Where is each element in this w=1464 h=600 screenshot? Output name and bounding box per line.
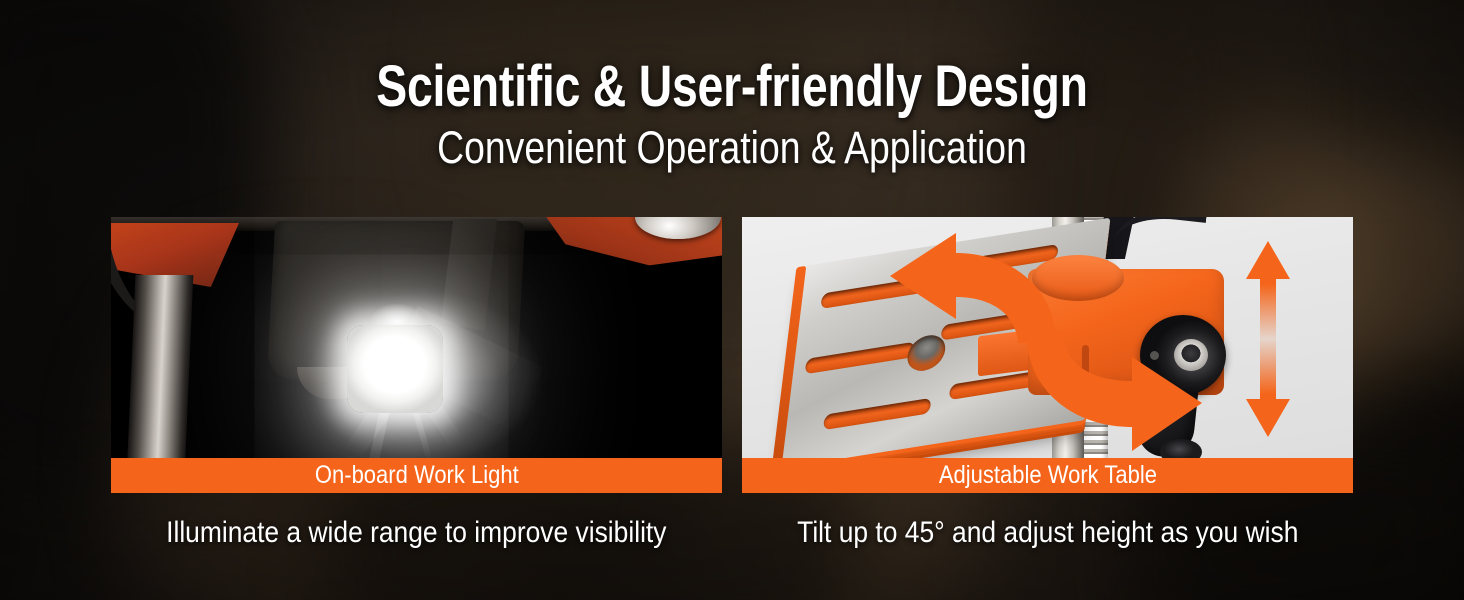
work-table-photo (742, 217, 1353, 458)
heading-block: Scientific & User-friendly Design Conven… (0, 56, 1464, 172)
height-adjust-arrow-icon (1242, 239, 1294, 439)
caption-label: Adjustable Work Table (938, 458, 1156, 493)
tilt-arrow-down-right-icon (1020, 327, 1220, 457)
led-lens (347, 325, 443, 413)
feature-card-work-table: Adjustable Work Table Tilt up to 45° and… (742, 217, 1353, 550)
description-work-table: Tilt up to 45° and adjust height as you … (742, 516, 1353, 550)
description-work-light: Illuminate a wide range to improve visib… (111, 516, 722, 550)
description-text: Tilt up to 45° and adjust height as you … (797, 516, 1298, 550)
product-feature-banner: Scientific & User-friendly Design Conven… (0, 0, 1464, 600)
caption-bar-work-table: Adjustable Work Table (742, 458, 1353, 493)
power-cable (1111, 217, 1207, 273)
work-light-photo (111, 217, 722, 458)
caption-label: On-board Work Light (315, 458, 519, 493)
caption-bar-work-light: On-board Work Light (111, 458, 722, 493)
banner-title: Scientific & User-friendly Design (146, 56, 1317, 118)
description-text: Illuminate a wide range to improve visib… (166, 516, 666, 550)
banner-subtitle: Convenient Operation & Application (124, 124, 1339, 172)
feature-card-work-light: On-board Work Light Illuminate a wide ra… (111, 217, 722, 550)
chrome-column (127, 275, 194, 458)
